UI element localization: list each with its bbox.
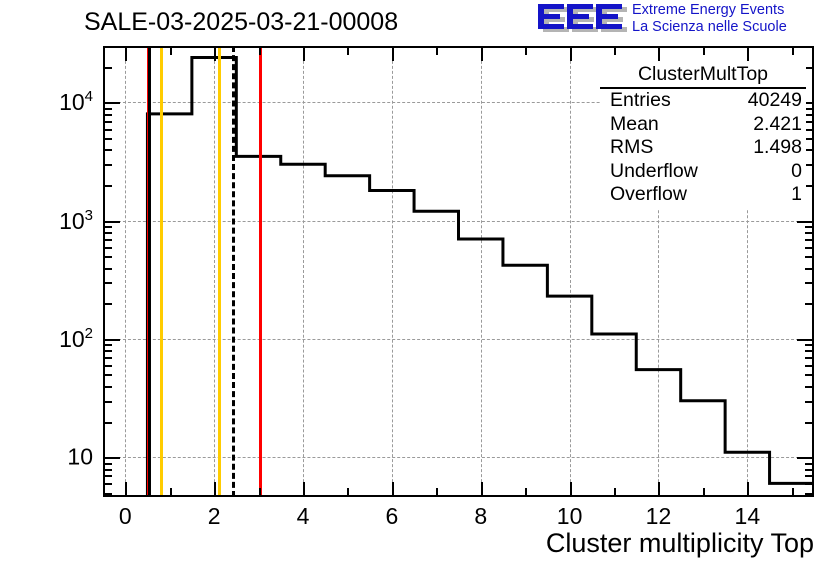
x-axis-label: 10 <box>557 503 583 530</box>
y-tick <box>104 303 112 305</box>
x-tick <box>125 482 127 496</box>
stats-row-key: Overflow <box>610 183 687 207</box>
y-tick <box>805 232 813 234</box>
x-tick <box>392 482 394 496</box>
x-tick <box>347 47 349 55</box>
x-tick <box>125 47 127 61</box>
stats-row-key: RMS <box>610 136 653 160</box>
y-tick <box>104 386 112 388</box>
y-tick <box>104 239 112 241</box>
y-tick <box>805 121 813 123</box>
y-tick <box>805 108 813 110</box>
x-tick <box>570 482 572 496</box>
stats-row: Underflow0 <box>600 160 806 184</box>
y-tick <box>805 256 813 258</box>
y-tick <box>805 357 813 359</box>
stats-row: Overflow1 <box>600 183 806 207</box>
y-tick <box>104 339 120 341</box>
x-tick <box>481 47 483 61</box>
y-tick <box>104 344 112 346</box>
stats-box: ClusterMultTop Entries40249Mean2.421RMS1… <box>600 61 806 209</box>
x-tick <box>658 47 660 61</box>
y-tick <box>104 232 112 234</box>
y-tick <box>104 67 112 69</box>
y-tick <box>805 303 813 305</box>
y-tick <box>805 344 813 346</box>
y-tick <box>104 185 112 187</box>
x-tick <box>747 482 749 496</box>
x-tick <box>703 488 705 496</box>
stats-row-value: 1.498 <box>753 136 802 160</box>
x-tick <box>481 482 483 496</box>
x-tick <box>525 47 527 55</box>
x-tick <box>703 47 705 55</box>
x-tick <box>436 47 438 55</box>
y-tick <box>104 129 112 131</box>
y-tick <box>104 457 120 459</box>
x-tick <box>614 488 616 496</box>
stats-row-value: 0 <box>791 160 802 184</box>
y-tick <box>104 374 112 376</box>
stats-row-key: Entries <box>610 89 671 113</box>
x-tick <box>658 482 660 496</box>
y-tick <box>104 282 112 284</box>
stats-row: Entries40249 <box>600 89 806 113</box>
y-tick <box>805 149 813 151</box>
x-tick <box>259 47 261 55</box>
y-tick <box>104 401 112 403</box>
y-tick <box>104 493 112 495</box>
y-tick <box>104 268 112 270</box>
y-axis-label: 102 <box>0 325 93 353</box>
y-tick <box>805 138 813 140</box>
y-axis-label: 103 <box>0 207 93 235</box>
eee-logo-mark-icon <box>537 3 627 37</box>
y-tick <box>104 350 112 352</box>
y-tick <box>805 185 813 187</box>
x-tick <box>170 47 172 55</box>
stats-row-key: Mean <box>610 113 659 137</box>
stats-rows: Entries40249Mean2.421RMS1.498Underflow0O… <box>600 89 806 207</box>
stats-row-value: 40249 <box>748 89 802 113</box>
stats-row-value: 1 <box>791 183 802 207</box>
x-axis-title: Cluster multiplicity Top <box>546 528 814 559</box>
y-tick <box>104 256 112 258</box>
y-tick <box>805 374 813 376</box>
y-tick <box>805 493 813 495</box>
eee-logo: Extreme Energy Events La Scienza nelle S… <box>537 2 835 42</box>
eee-logo-line2: La Scienza nelle Scuole <box>632 19 787 36</box>
stats-title: ClusterMultTop <box>600 61 806 89</box>
stats-row-value: 2.421 <box>753 113 802 137</box>
y-tick <box>104 247 112 249</box>
x-tick <box>214 482 216 496</box>
y-tick <box>104 102 120 104</box>
x-tick <box>347 488 349 496</box>
y-tick <box>104 422 112 424</box>
y-tick <box>104 108 112 110</box>
y-tick <box>805 350 813 352</box>
x-axis-label: 0 <box>119 503 132 530</box>
y-tick <box>104 149 112 151</box>
y-tick <box>104 226 112 228</box>
y-tick <box>805 226 813 228</box>
x-axis-label: 8 <box>474 503 487 530</box>
x-tick <box>436 488 438 496</box>
y-tick <box>104 221 120 223</box>
y-tick <box>797 339 813 341</box>
x-axis-label: 6 <box>385 503 398 530</box>
y-axis-label: 104 <box>0 89 93 117</box>
x-tick <box>792 488 794 496</box>
y-tick <box>805 475 813 477</box>
y-tick <box>104 483 112 485</box>
x-tick <box>570 47 572 61</box>
y-tick <box>104 164 112 166</box>
y-tick <box>805 365 813 367</box>
y-tick <box>104 469 112 471</box>
y-tick <box>805 114 813 116</box>
y-tick <box>805 239 813 241</box>
stats-row-key: Underflow <box>610 160 698 184</box>
y-tick <box>805 483 813 485</box>
y-axis-label: 10 <box>0 444 93 471</box>
y-tick <box>805 67 813 69</box>
x-tick <box>792 47 794 55</box>
y-tick <box>805 469 813 471</box>
y-tick <box>797 457 813 459</box>
x-axis-label: 14 <box>735 503 761 530</box>
x-axis-label: 2 <box>208 503 221 530</box>
y-tick <box>805 282 813 284</box>
x-tick <box>303 47 305 61</box>
y-tick <box>805 386 813 388</box>
y-tick <box>805 247 813 249</box>
y-tick <box>805 164 813 166</box>
stats-row: Mean2.421 <box>600 113 806 137</box>
x-tick <box>170 488 172 496</box>
y-tick <box>805 401 813 403</box>
y-tick <box>104 114 112 116</box>
eee-logo-line1: Extreme Energy Events <box>632 2 784 18</box>
stats-row: RMS1.498 <box>600 136 806 160</box>
y-tick <box>805 268 813 270</box>
y-tick <box>104 357 112 359</box>
y-tick <box>805 129 813 131</box>
y-tick <box>104 463 112 465</box>
page-title: SALE-03-2025-03-21-00008 <box>84 8 398 37</box>
x-tick <box>259 488 261 496</box>
x-axis-label: 4 <box>297 503 310 530</box>
x-tick <box>214 47 216 61</box>
y-tick <box>797 221 813 223</box>
root-canvas: SALE-03-2025-03-21-00008 <box>0 0 836 572</box>
x-axis-label: 12 <box>646 503 672 530</box>
x-tick <box>392 47 394 61</box>
y-tick <box>805 463 813 465</box>
x-tick <box>303 482 305 496</box>
x-tick <box>747 47 749 61</box>
y-tick <box>104 138 112 140</box>
x-tick <box>614 47 616 55</box>
x-tick <box>525 488 527 496</box>
eee-logo-text: Extreme Energy Events La Scienza nelle S… <box>632 2 787 36</box>
y-tick <box>805 422 813 424</box>
y-tick <box>104 365 112 367</box>
y-tick <box>104 475 112 477</box>
y-tick <box>104 121 112 123</box>
